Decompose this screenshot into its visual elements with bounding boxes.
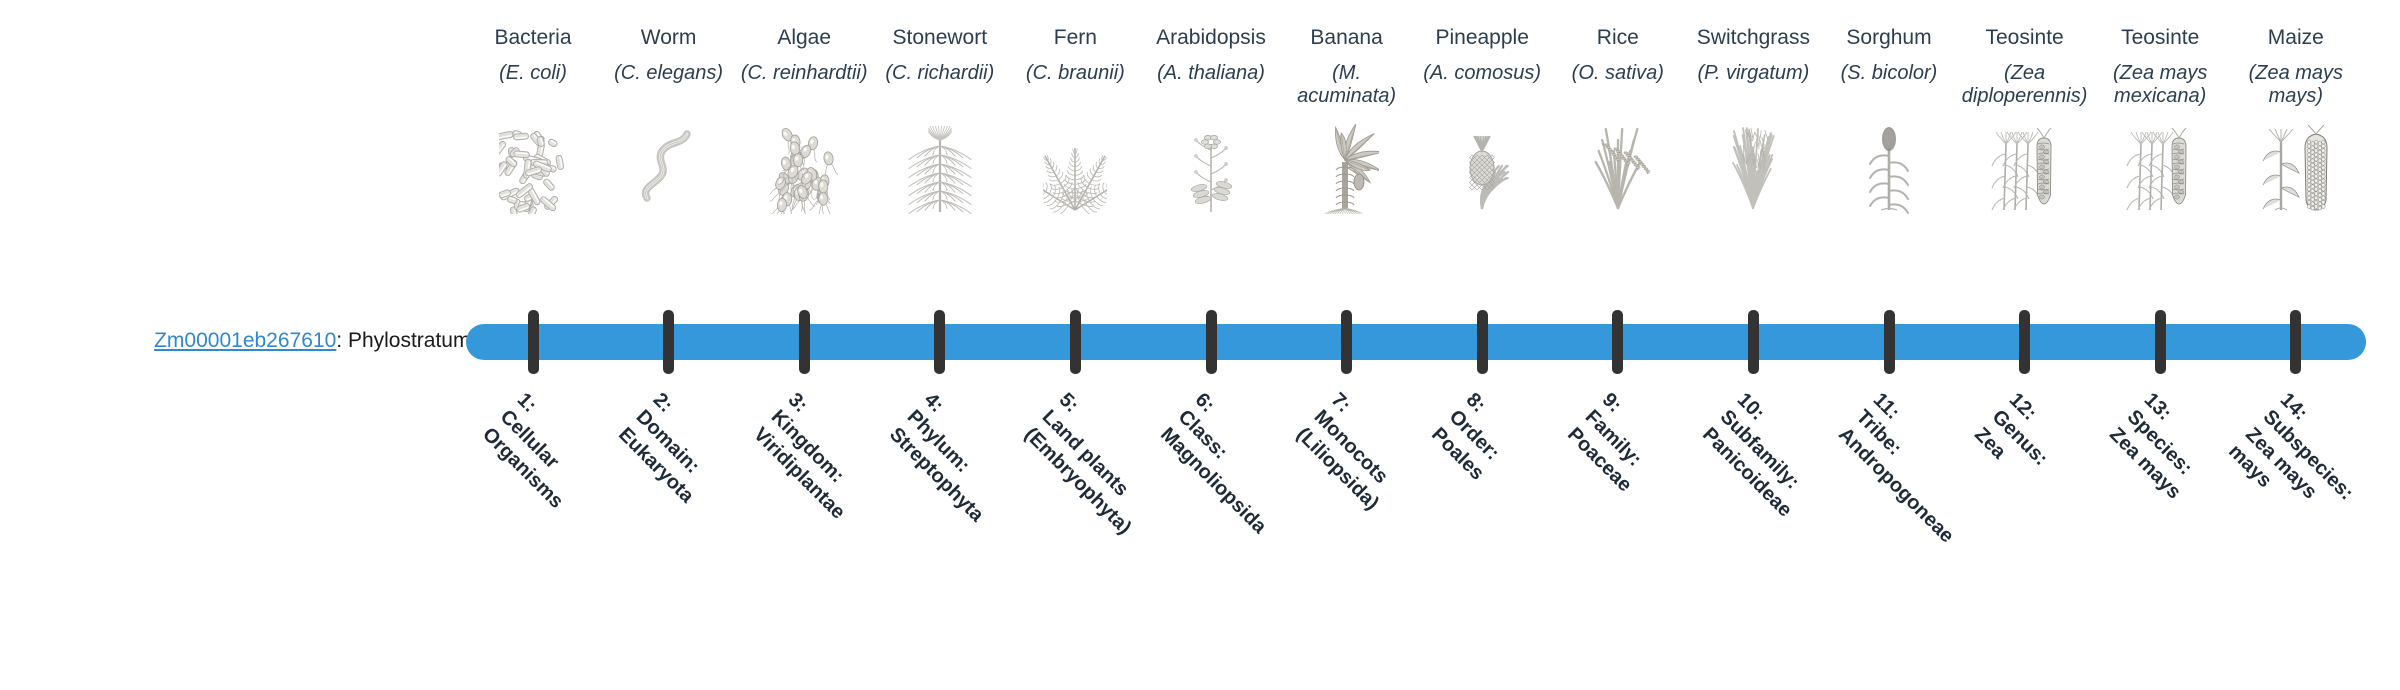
tick-mark [1612, 310, 1623, 374]
fern-icon [1009, 122, 1141, 214]
species-column: Teosinte(Zea diploperennis) [1959, 26, 2091, 214]
worm-icon [603, 122, 735, 214]
species-column: Sorghum(S. bicolor) [1823, 26, 1955, 214]
tick-mark [2019, 310, 2030, 374]
species-common-name: Fern [1009, 26, 1141, 56]
species-latin-name: (A. comosus) [1416, 62, 1548, 118]
species-column: Stonewort(C. richardii) [874, 26, 1006, 214]
species-column: Worm(C. elegans) [603, 26, 735, 214]
species-latin-name: (C. richardii) [874, 62, 1006, 118]
phylostratum-rank-text: Order: Poales [1427, 406, 1503, 484]
species-common-name: Banana [1281, 26, 1413, 56]
species-common-name: Pineapple [1416, 26, 1548, 56]
teosinte-icon [1959, 122, 2091, 214]
tick-mark [663, 310, 674, 374]
species-common-name: Sorghum [1823, 26, 1955, 56]
tick-mark [2155, 310, 2166, 374]
phylostratum-rank-text: Cellular Organisms [478, 406, 567, 513]
species-column: Rice(O. sativa) [1552, 26, 1684, 214]
switchgrass-icon [1687, 122, 1819, 214]
gene-id-link[interactable]: Zm00001eb267610 [154, 329, 336, 352]
species-common-name: Switchgrass [1687, 26, 1819, 56]
species-latin-name: (E. coli) [467, 62, 599, 118]
species-latin-name: (C. elegans) [603, 62, 735, 118]
phylostratum-bar[interactable] [466, 324, 2366, 360]
tick-mark [1884, 310, 1895, 374]
species-common-name: Arabidopsis [1145, 26, 1277, 56]
banana-icon [1281, 122, 1413, 214]
species-common-name: Maize [2230, 26, 2362, 56]
tick-mark [1477, 310, 1488, 374]
arabidopsis-icon [1145, 122, 1277, 214]
species-latin-name: (Zea diploperennis) [1959, 62, 2091, 118]
species-common-name: Teosinte [1959, 26, 2091, 56]
species-latin-name: (O. sativa) [1552, 62, 1684, 118]
species-latin-name: (Zea mays mexicana) [2094, 62, 2226, 118]
species-common-name: Rice [1552, 26, 1684, 56]
species-latin-name: (C. reinhardtii) [738, 62, 870, 118]
species-latin-name: (M. acuminata) [1281, 62, 1413, 118]
species-column: Banana(M. acuminata) [1281, 26, 1413, 214]
species-column: Algae(C. reinhardtii) [738, 26, 870, 214]
species-latin-name: (C. braunii) [1009, 62, 1141, 118]
tick-mark [934, 310, 945, 374]
tick-mark [528, 310, 539, 374]
species-common-name: Algae [738, 26, 870, 56]
tick-mark [2290, 310, 2301, 374]
species-common-name: Worm [603, 26, 735, 56]
species-column: Fern(C. braunii) [1009, 26, 1141, 214]
species-column: Maize(Zea mays mays) [2230, 26, 2362, 214]
stonewort-icon [874, 122, 1006, 214]
phylostratigraphy-figure: Zm00001eb267610: Phylostratum 1 Bacteria… [0, 0, 2400, 580]
phylostratum-rank-text: Genus: Zea [1970, 406, 2052, 470]
pineapple-icon [1416, 122, 1548, 214]
species-common-name: Teosinte [2094, 26, 2226, 56]
maize-icon [2230, 122, 2362, 214]
phylostratum-rank-text: Family: Poaceae [1563, 406, 1645, 496]
species-latin-name: (P. virgatum) [1687, 62, 1819, 118]
species-common-name: Bacteria [467, 26, 599, 56]
tick-mark [1748, 310, 1759, 374]
teosinte-icon [2094, 122, 2226, 214]
tick-mark [799, 310, 810, 374]
gene-label-separator: : [336, 329, 348, 352]
species-latin-name: (S. bicolor) [1823, 62, 1955, 118]
gene-phylostratum-label: Zm00001eb267610: Phylostratum 1 [28, 330, 488, 351]
rice-icon [1552, 122, 1684, 214]
sorghum-icon [1823, 122, 1955, 214]
tick-mark [1070, 310, 1081, 374]
species-common-name: Stonewort [874, 26, 1006, 56]
species-latin-name: (A. thaliana) [1145, 62, 1277, 118]
algae-icon [738, 122, 870, 214]
tick-mark [1341, 310, 1352, 374]
species-column: Bacteria(E. coli) [467, 26, 599, 214]
species-column: Arabidopsis(A. thaliana) [1145, 26, 1277, 214]
species-column: Teosinte(Zea mays mexicana) [2094, 26, 2226, 214]
species-column: Switchgrass(P. virgatum) [1687, 26, 1819, 214]
species-latin-name: (Zea mays mays) [2230, 62, 2362, 118]
tick-mark [1206, 310, 1217, 374]
bacteria-icon [467, 122, 599, 214]
species-column: Pineapple(A. comosus) [1416, 26, 1548, 214]
